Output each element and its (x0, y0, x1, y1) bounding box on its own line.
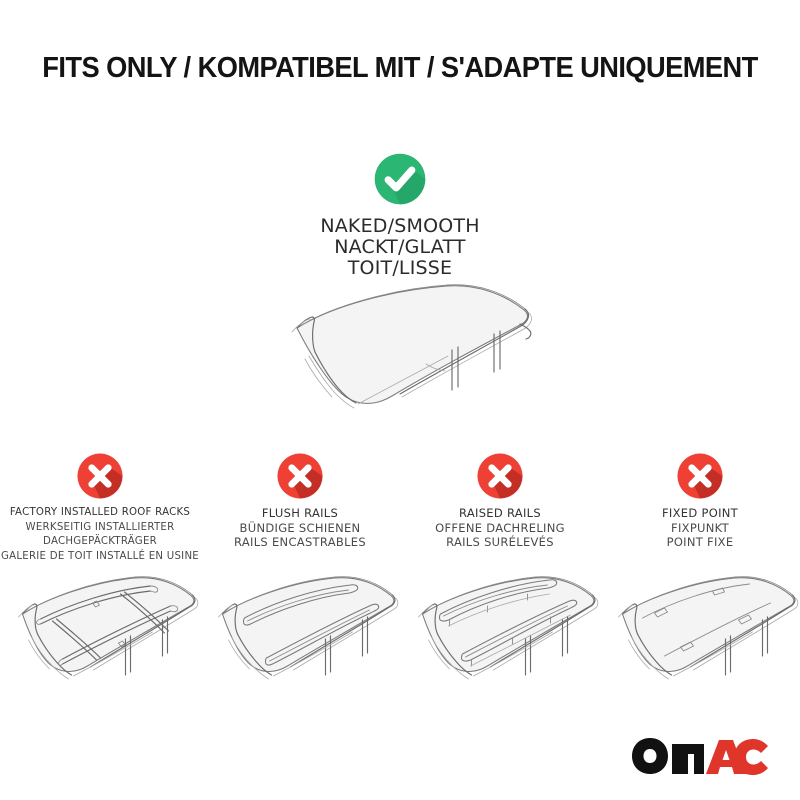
label-group: FIXED POINT FIXPUNKT POINT FIXE (600, 506, 800, 550)
rejected-item-raised-rails: RAISED RAILS OFFENE DACHRELING RAILS SUR… (400, 452, 600, 712)
rejected-roof-types-row: FACTORY INSTALLED ROOF RACKS WERKSEITIG … (0, 452, 800, 712)
x-circle-icon (76, 452, 124, 500)
approved-label-group: NAKED/SMOOTH NACKT/GLATT TOIT/LISSE (0, 216, 800, 279)
label-de: OFFENE DACHRELING (400, 521, 600, 536)
label-en: FLUSH RAILS (200, 506, 400, 521)
fixed-point-illustration (593, 556, 800, 706)
factory-roof-rack-illustration (0, 556, 208, 706)
approved-label-de: NACKT/GLATT (0, 237, 800, 258)
label-de: BÜNDIGE SCHIENEN (200, 521, 400, 536)
label-en: RAISED RAILS (400, 506, 600, 521)
x-circle-icon (276, 452, 324, 500)
label-group: FLUSH RAILS BÜNDIGE SCHIENEN RAILS ENCAS… (200, 506, 400, 550)
label-fr: POINT FIXE (600, 535, 800, 550)
label-en: FIXED POINT (600, 506, 800, 521)
check-circle-icon (373, 152, 427, 206)
approved-label-en: NAKED/SMOOTH (0, 216, 800, 237)
approved-roof-type-block: NAKED/SMOOTH NACKT/GLATT TOIT/LISSE (0, 152, 800, 279)
rejected-item-factory-installed-roof-racks: FACTORY INSTALLED ROOF RACKS WERKSEITIG … (0, 452, 200, 712)
flush-rails-illustration (193, 556, 408, 706)
omac-logo (630, 734, 770, 778)
label-en: FACTORY INSTALLED ROOF RACKS (0, 506, 200, 521)
page-title: FITS ONLY / KOMPATIBEL MIT / S'ADAPTE UN… (24, 52, 776, 85)
rejected-item-fixed-point: FIXED POINT FIXPUNKT POINT FIXE (600, 452, 800, 712)
label-fr: RAILS ENCASTRABLES (200, 535, 400, 550)
label-de-2: DACHGEPÄCKTRÄGER (0, 535, 200, 550)
naked-smooth-roof-illustration (262, 276, 562, 416)
x-circle-icon (676, 452, 724, 500)
x-circle-icon (476, 452, 524, 500)
label-de-1: WERKSEITIG INSTALLIERTER (0, 521, 200, 536)
raised-rails-illustration (393, 556, 608, 706)
label-fr: RAILS SURÉLEVÉS (400, 535, 600, 550)
label-de: FIXPUNKT (600, 521, 800, 536)
rejected-item-flush-rails: FLUSH RAILS BÜNDIGE SCHIENEN RAILS ENCAS… (200, 452, 400, 712)
label-group: RAISED RAILS OFFENE DACHRELING RAILS SUR… (400, 506, 600, 550)
